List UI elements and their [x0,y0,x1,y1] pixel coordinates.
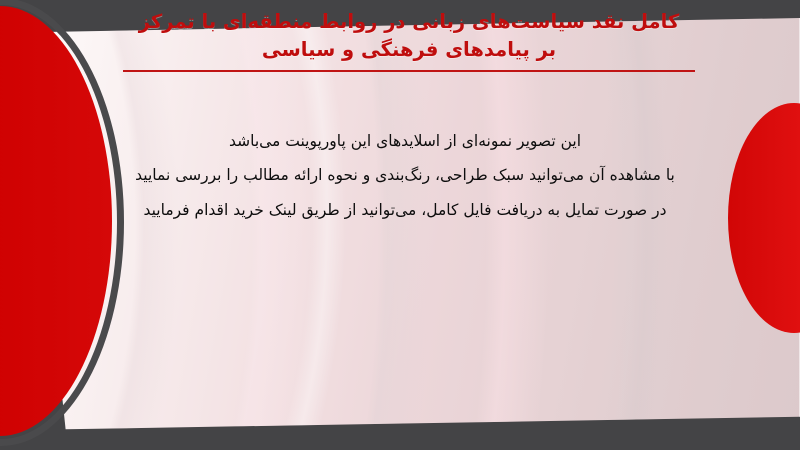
powerpoint-slide: کامل نقد سیاست‌های زبانی در روابط منطقه‌… [0,0,800,450]
